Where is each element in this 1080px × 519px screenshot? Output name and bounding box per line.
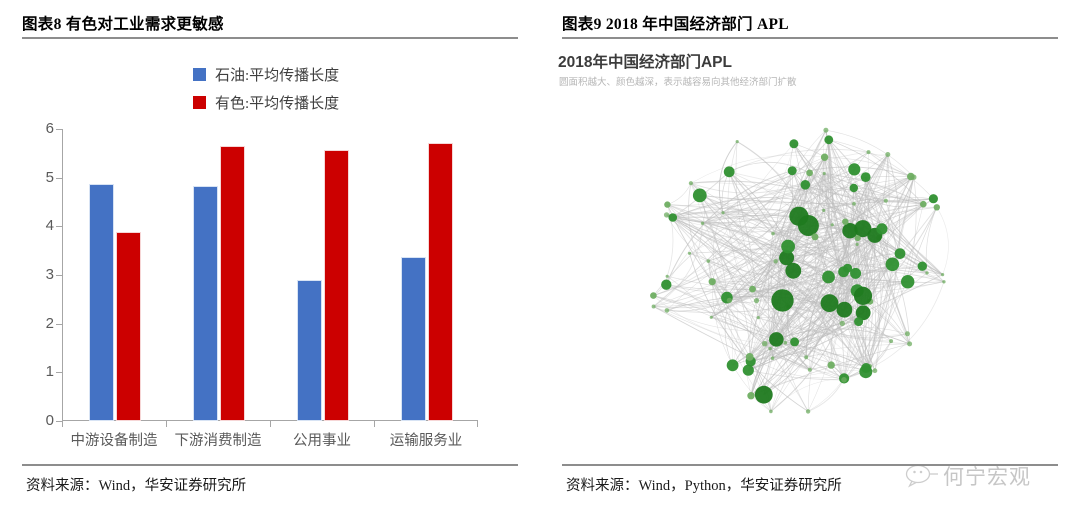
- y-tick-6: [56, 129, 62, 130]
- bar-chart-plot-area: 0 1 2 3 4 5 6 中游: [62, 129, 478, 421]
- network-node: [701, 222, 704, 225]
- y-tick-label-5: 5: [28, 169, 54, 186]
- network-node: [806, 409, 810, 413]
- network-node: [664, 201, 670, 207]
- y-tick-label-2: 2: [28, 315, 54, 332]
- bar-oil-0: [89, 184, 114, 421]
- network-node: [929, 194, 938, 203]
- network-node: [808, 368, 812, 372]
- network-node: [895, 248, 906, 259]
- x-axis-label-3: 运输服务业: [390, 429, 463, 450]
- network-node: [941, 273, 944, 276]
- network-node: [856, 243, 859, 246]
- watermark: 何宁宏观: [905, 461, 1031, 491]
- network-node: [824, 135, 833, 144]
- network-node: [907, 341, 912, 346]
- network-node: [747, 392, 754, 399]
- network-node: [828, 361, 835, 368]
- network-node: [850, 184, 858, 192]
- legend-item-oil: 石油:平均传播长度: [193, 62, 339, 86]
- left-figure-title: 图表8 有色对工业需求更敏感: [22, 12, 224, 34]
- network-node: [822, 209, 825, 212]
- left-title-divider: [22, 37, 518, 39]
- network-node: [781, 240, 795, 254]
- network-node: [771, 356, 775, 360]
- network-node: [821, 294, 839, 312]
- right-source-note: 资料来源：Wind，Python，华安证券研究所: [566, 474, 842, 495]
- network-node: [707, 259, 711, 263]
- chart-legend: 石油:平均传播长度 有色:平均传播长度: [193, 62, 339, 118]
- network-node: [822, 271, 835, 284]
- y-tick-2: [56, 324, 62, 325]
- network-node: [920, 201, 927, 208]
- network-node: [821, 154, 828, 161]
- network-node: [688, 252, 691, 255]
- network-node: [652, 305, 656, 309]
- network-node: [867, 150, 871, 154]
- y-tick-label-1: 1: [28, 363, 54, 380]
- network-node: [693, 189, 707, 203]
- network-node: [859, 365, 872, 378]
- legend-label-oil: 石油:平均传播长度: [215, 64, 339, 85]
- network-node: [736, 140, 739, 143]
- y-tick-label-4: 4: [28, 217, 54, 234]
- network-node: [785, 263, 801, 279]
- network-graph-svg: [540, 44, 1080, 459]
- network-node: [831, 223, 834, 226]
- network-node: [754, 298, 759, 303]
- network-node: [901, 275, 914, 288]
- x-tick-3: [374, 421, 375, 427]
- network-node: [854, 287, 872, 305]
- network-node: [848, 163, 860, 175]
- network-node: [876, 223, 887, 234]
- network-node: [804, 355, 808, 359]
- y-tick-label-6: 6: [28, 120, 54, 137]
- network-node: [812, 233, 819, 240]
- network-node: [841, 377, 847, 383]
- figure-page: 图表8 有色对工业需求更敏感 石油:平均传播长度 有色:平均传播长度 0: [0, 0, 1080, 519]
- network-chart: 2018年中国经济部门APL 圆面积越大、颜色越深，表示越容易向其他经济部门扩散: [540, 44, 1080, 459]
- left-source-note: 资料来源：Wind，华安证券研究所: [26, 474, 246, 495]
- y-tick-3: [56, 275, 62, 276]
- network-node: [784, 341, 788, 345]
- network-node: [727, 359, 739, 371]
- network-node: [771, 232, 775, 236]
- left-footer-divider: [22, 464, 518, 466]
- network-node: [801, 180, 811, 190]
- legend-label-nonferrous: 有色:平均传播长度: [215, 92, 339, 113]
- bar-nonferrous-2: [324, 150, 349, 421]
- bar-nonferrous-3: [428, 143, 453, 421]
- network-node: [842, 219, 848, 225]
- network-node: [666, 275, 669, 278]
- network-node: [854, 220, 871, 237]
- legend-swatch-blue: [193, 68, 206, 81]
- network-node: [743, 365, 754, 376]
- bar-oil-1: [193, 186, 218, 421]
- network-node: [855, 235, 861, 241]
- network-node: [843, 264, 852, 273]
- network-node: [665, 308, 670, 313]
- bar-oil-2: [297, 280, 322, 421]
- network-node: [806, 170, 813, 177]
- network-node: [873, 368, 878, 373]
- y-tick-label-3: 3: [28, 266, 54, 283]
- bar-oil-3: [401, 257, 426, 421]
- network-node: [861, 172, 871, 182]
- network-node: [840, 321, 845, 326]
- network-node: [650, 292, 657, 299]
- network-node: [790, 337, 799, 346]
- x-tick-4: [477, 421, 478, 427]
- network-node: [771, 289, 793, 311]
- network-node: [789, 207, 808, 226]
- x-tick-1: [166, 421, 167, 427]
- network-node: [661, 280, 671, 290]
- network-node: [721, 211, 724, 214]
- network-node: [942, 280, 945, 283]
- network-node: [689, 181, 693, 185]
- network-node: [854, 317, 863, 326]
- x-tick-0: [62, 421, 63, 427]
- watermark-label: 何宁宏观: [943, 461, 1031, 491]
- network-node: [762, 341, 768, 347]
- bar-chart: 石油:平均传播长度 有色:平均传播长度 0 1 2 3: [0, 44, 540, 459]
- y-tick-4: [56, 226, 62, 227]
- network-node: [755, 386, 773, 404]
- network-node: [788, 166, 797, 175]
- x-tick-2: [270, 421, 271, 427]
- network-node: [727, 298, 732, 303]
- network-node: [925, 271, 928, 274]
- network-node: [885, 152, 890, 157]
- network-node: [789, 139, 798, 148]
- network-node: [886, 258, 900, 272]
- network-node: [852, 202, 856, 206]
- network-node: [746, 353, 754, 361]
- x-axis-label-2: 公用事业: [293, 429, 351, 450]
- right-figure-panel: 图表9 2018 年中国经济部门 APL 2018年中国经济部门APL 圆面积越…: [540, 0, 1080, 519]
- network-node: [823, 172, 826, 175]
- network-node: [911, 175, 916, 180]
- network-node: [769, 410, 773, 414]
- network-node: [757, 316, 760, 319]
- right-title-divider: [562, 37, 1058, 39]
- network-node: [918, 262, 927, 271]
- bar-nonferrous-1: [220, 146, 245, 422]
- bar-nonferrous-0: [116, 232, 141, 421]
- network-node: [774, 259, 778, 263]
- network-node: [664, 212, 669, 217]
- network-node: [710, 316, 713, 319]
- legend-item-nonferrous: 有色:平均传播长度: [193, 90, 339, 114]
- wechat-bubble-icon: [905, 463, 939, 489]
- network-node: [905, 331, 910, 336]
- y-axis-line: [62, 129, 63, 421]
- network-node: [669, 213, 678, 222]
- network-node: [769, 332, 784, 347]
- y-tick-1: [56, 372, 62, 373]
- right-figure-title: 图表9 2018 年中国经济部门 APL: [562, 12, 789, 34]
- legend-swatch-red: [193, 96, 206, 109]
- network-node: [709, 278, 716, 285]
- x-axis-label-0: 中游设备制造: [71, 429, 158, 450]
- y-tick-5: [56, 178, 62, 179]
- x-axis-label-1: 下游消费制造: [175, 429, 262, 450]
- y-tick-label-0: 0: [28, 412, 54, 429]
- network-node: [837, 302, 853, 318]
- network-node: [934, 204, 940, 210]
- network-node: [823, 128, 828, 133]
- network-node: [724, 166, 735, 177]
- network-node: [749, 286, 756, 293]
- network-node: [768, 347, 771, 350]
- left-figure-panel: 图表8 有色对工业需求更敏感 石油:平均传播长度 有色:平均传播长度 0: [0, 0, 540, 519]
- network-node: [884, 199, 888, 203]
- network-node: [889, 339, 893, 343]
